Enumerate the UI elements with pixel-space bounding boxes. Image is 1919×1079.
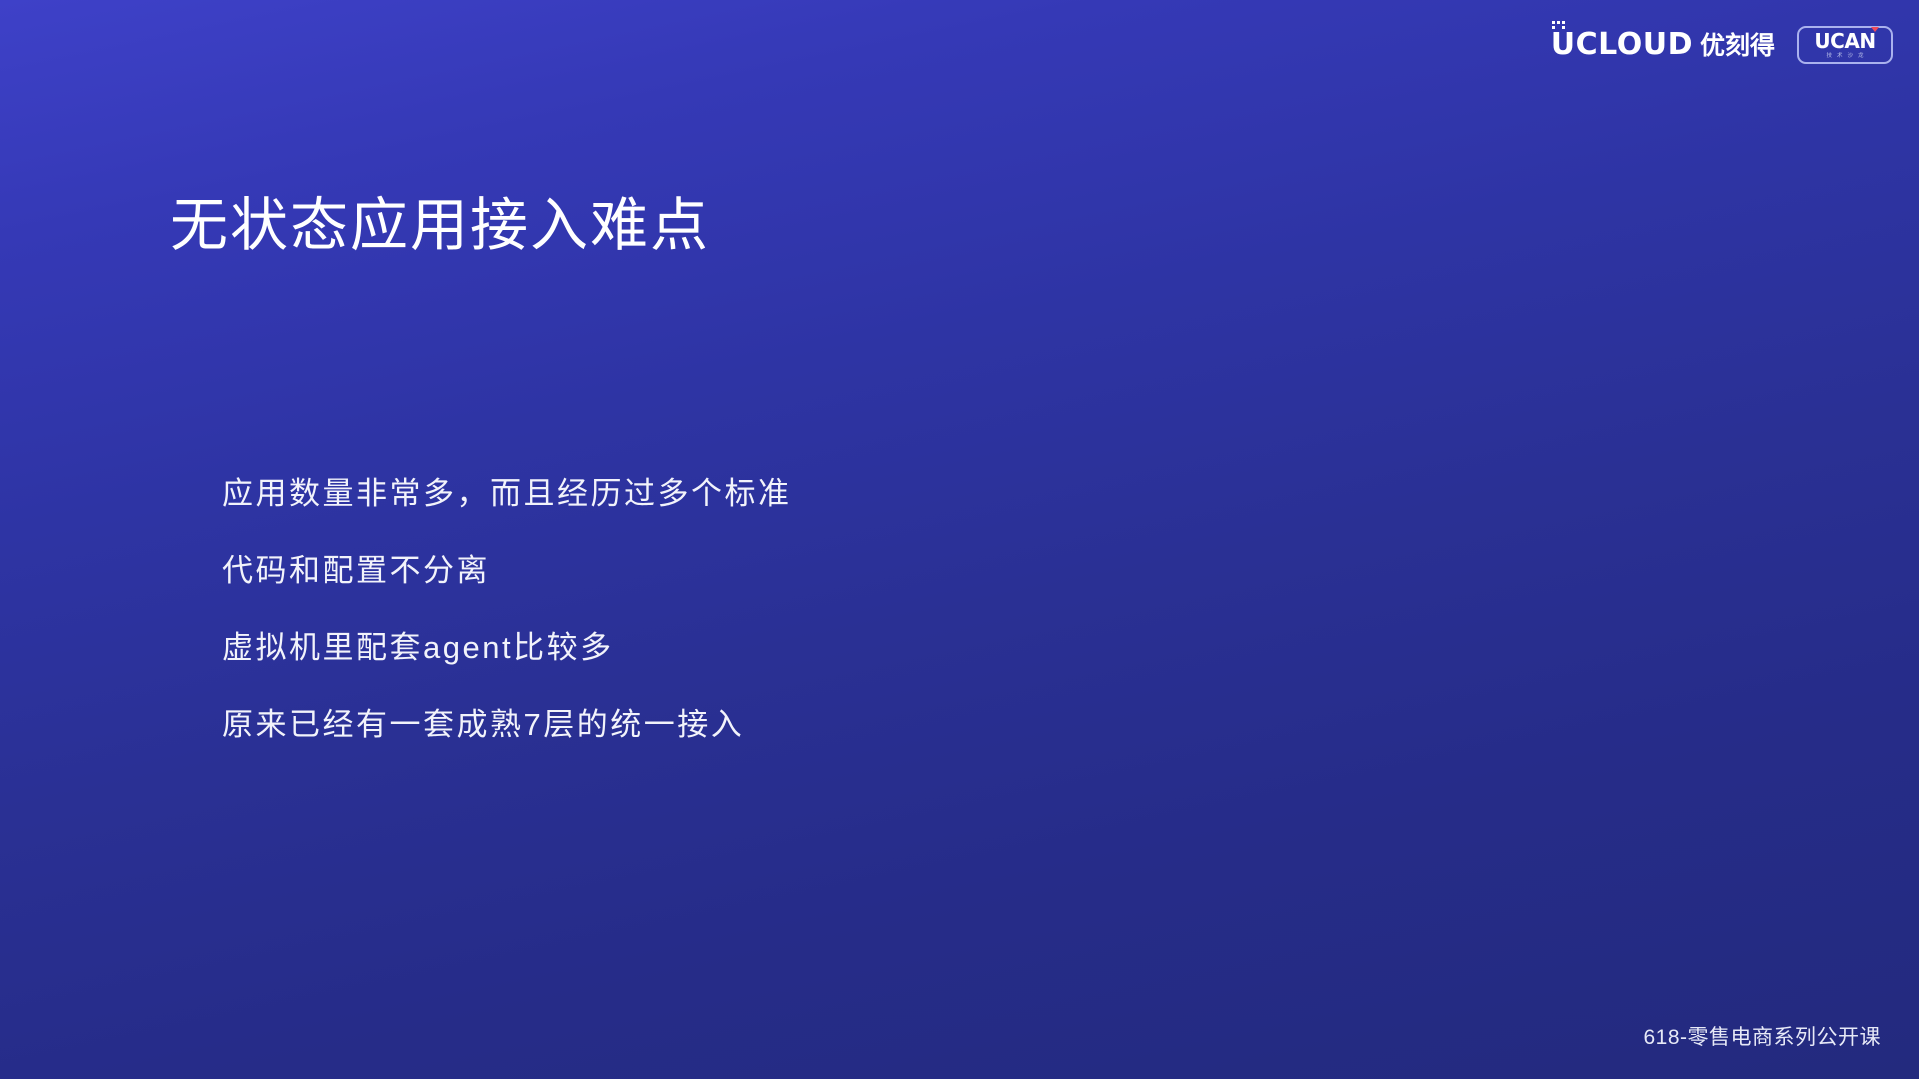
- bullet-list: 应用数量非常多，而且经历过多个标准 代码和配置不分离 虚拟机里配套agent比较…: [222, 455, 792, 763]
- ucan-accent-triangle-icon: [1871, 27, 1879, 32]
- list-item: 代码和配置不分离: [222, 532, 792, 609]
- ucan-subtitle: 技术沙龙: [1821, 54, 1868, 60]
- brand-bar: UCLOUD 优刻得 UCAN 技术沙龙: [1551, 22, 1893, 68]
- ucloud-logo: UCLOUD 优刻得: [1551, 30, 1775, 60]
- page-title: 无状态应用接入难点: [170, 191, 710, 261]
- ucan-wordmark: UCAN: [1814, 31, 1875, 51]
- list-item: 虚拟机里配套agent比较多: [222, 609, 792, 686]
- list-item: 原来已经有一套成熟7层的统一接入: [222, 686, 792, 763]
- ucloud-wordmark: UCLOUD: [1551, 30, 1693, 60]
- slide-footer-note: 618-零售电商系列公开课: [1643, 1021, 1881, 1051]
- ucloud-chinese-name: 优刻得: [1700, 34, 1775, 60]
- ucan-logo-badge: UCAN 技术沙龙: [1797, 26, 1893, 64]
- list-item: 应用数量非常多，而且经历过多个标准: [222, 455, 792, 532]
- ucloud-dot-pattern-icon: [1552, 21, 1567, 30]
- presentation-slide: UCLOUD 优刻得 UCAN 技术沙龙 无状态应用接入难点 应用数量非常多，而…: [0, 0, 1919, 1079]
